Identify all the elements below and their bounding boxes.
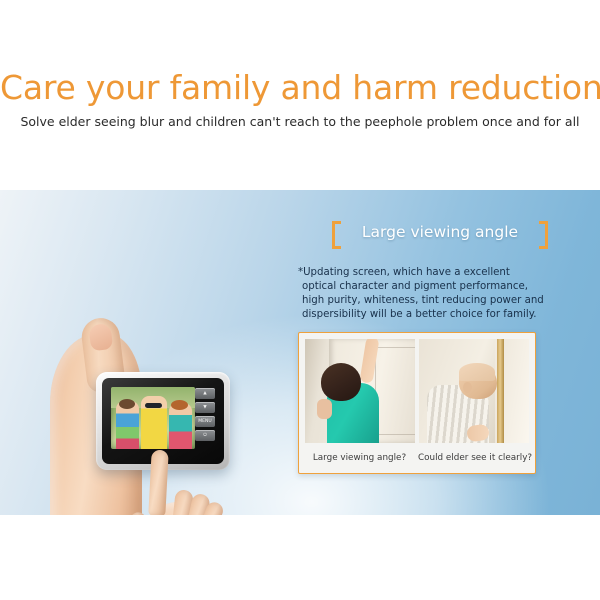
up-button[interactable]: ▲ bbox=[195, 388, 215, 399]
photo-caption-row: Large viewing angle? Could elder see it … bbox=[305, 443, 529, 473]
bracket-right-icon bbox=[539, 221, 548, 249]
child-head bbox=[321, 363, 361, 401]
photo-caption-right: Could elder see it clearly? bbox=[418, 453, 529, 463]
marketing-banner: Care your family and harm reduction Solv… bbox=[0, 0, 600, 600]
photo-panel: Large viewing angle? Could elder see it … bbox=[298, 332, 536, 474]
photo-elder-at-door bbox=[419, 339, 529, 443]
wall-right bbox=[504, 339, 529, 443]
power-button[interactable]: ⏻ bbox=[195, 430, 215, 441]
feature-panel: ▲ ▼ MENU ⏻ Large viewing a bbox=[0, 190, 600, 515]
menu-button[interactable]: MENU bbox=[195, 416, 215, 427]
feature-content: Large viewing angle *Updating screen, wh… bbox=[298, 218, 548, 474]
feature-body-text: *Updating screen, which have a excellent… bbox=[298, 266, 546, 322]
feature-heading: Large viewing angle bbox=[332, 218, 548, 254]
screen-person-right-hair bbox=[171, 400, 188, 410]
bracket-left-icon bbox=[332, 221, 341, 249]
index-finger bbox=[148, 450, 168, 515]
pointing-hand bbox=[124, 456, 244, 515]
sunglasses-icon bbox=[145, 403, 162, 408]
door-jamb bbox=[497, 339, 504, 443]
screen-person-left-hair bbox=[119, 399, 135, 409]
thumbnail bbox=[88, 323, 113, 351]
device-screen bbox=[111, 387, 195, 449]
photo-row bbox=[305, 339, 529, 443]
product-illustration: ▲ ▼ MENU ⏻ bbox=[28, 250, 288, 515]
header-section: Care your family and harm reduction Solv… bbox=[0, 0, 600, 190]
feature-heading-label: Large viewing angle bbox=[345, 223, 535, 241]
page-headline: Care your family and harm reduction bbox=[0, 68, 600, 107]
photo-caption-left: Large viewing angle? bbox=[305, 453, 414, 463]
photo-child-at-door bbox=[305, 339, 415, 443]
elder-scalp bbox=[459, 363, 495, 381]
door-panel-inset bbox=[375, 347, 415, 435]
page-subheadline: Solve elder seeing blur and children can… bbox=[0, 114, 600, 129]
child-neck bbox=[317, 399, 332, 419]
down-button[interactable]: ▼ bbox=[195, 402, 215, 413]
device-button-column: ▲ ▼ MENU ⏻ bbox=[195, 388, 215, 450]
elder-ear bbox=[463, 382, 472, 393]
